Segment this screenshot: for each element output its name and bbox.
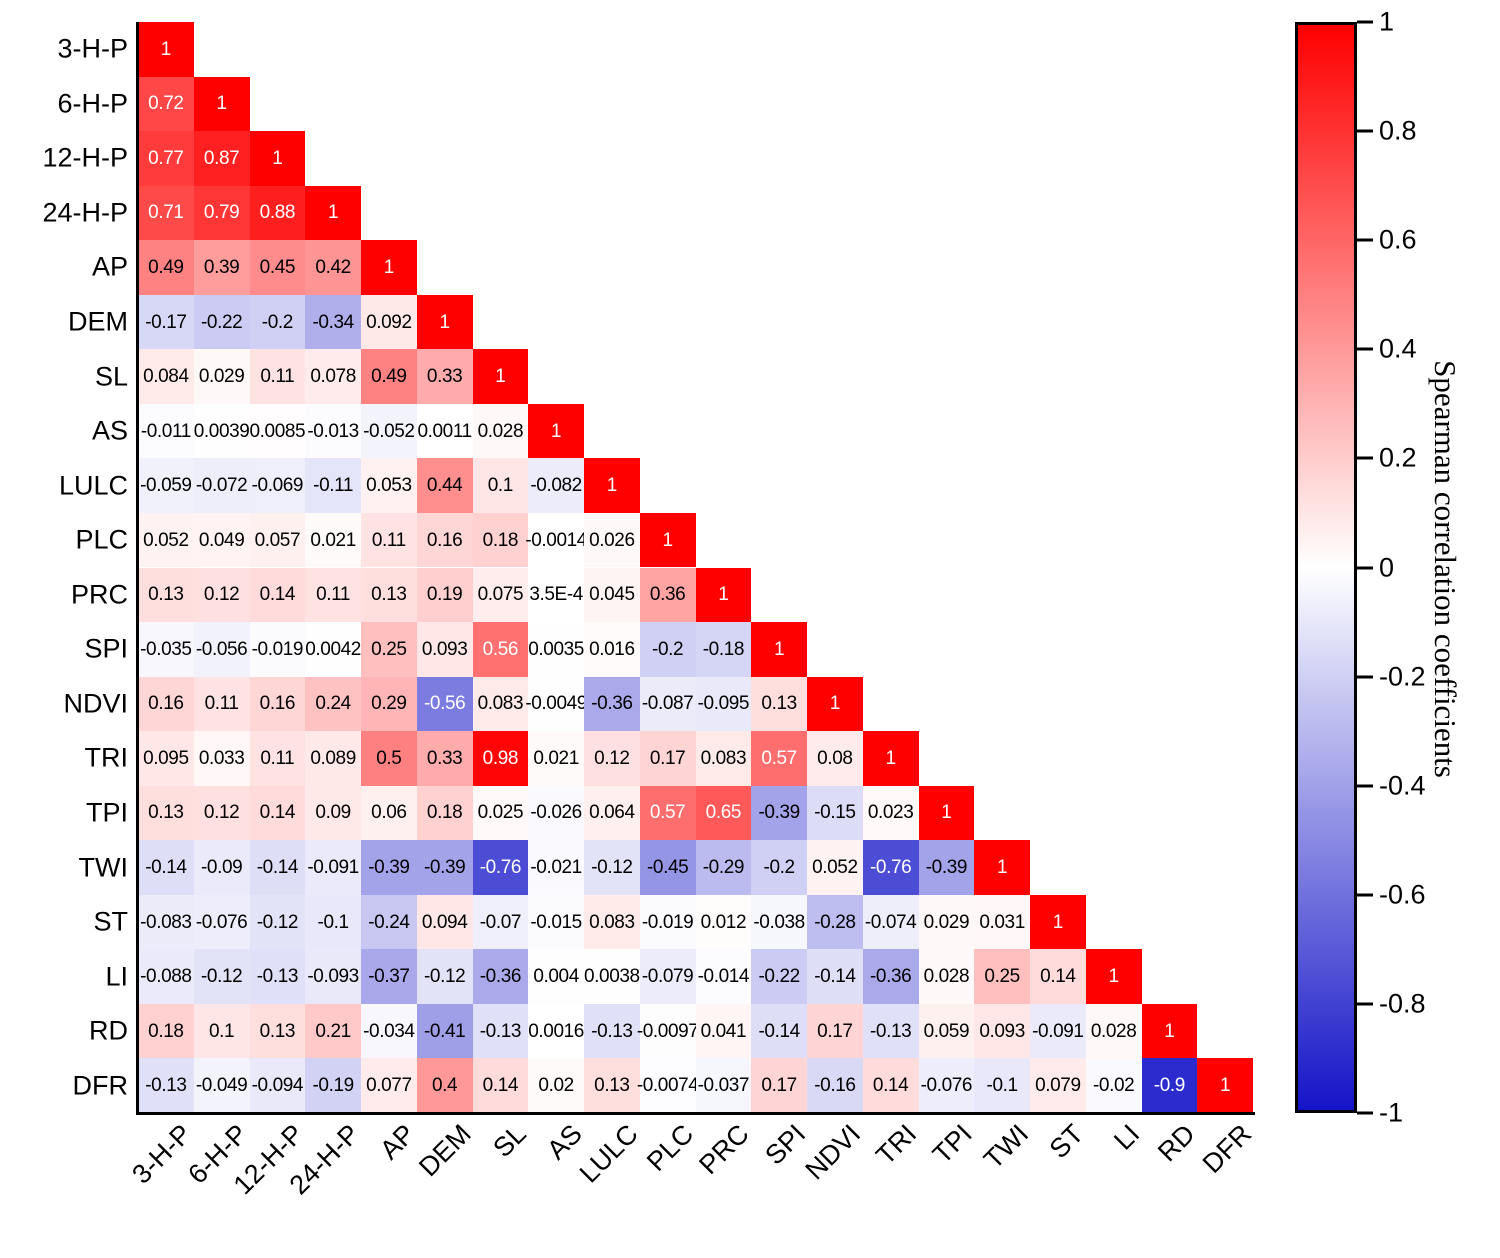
heatmap-cell: 1: [417, 295, 473, 350]
heatmap-cell: 0.077: [361, 1058, 417, 1113]
heatmap-cell: 0.059: [919, 1004, 975, 1059]
heatmap-cell: -0.072: [194, 458, 250, 513]
heatmap-cell: -0.0014: [528, 513, 584, 568]
heatmap-cell: 0.57: [640, 786, 696, 841]
colorbar-tick-label: -0.2: [1379, 663, 1426, 690]
heatmap-cell: 0.11: [194, 677, 250, 732]
x-axis-label: AS: [543, 1120, 588, 1165]
heatmap-cell: 0.36: [640, 568, 696, 623]
x-axis-label: ST: [1045, 1120, 1088, 1163]
heatmap-cell: 0.13: [361, 568, 417, 623]
y-axis-label: SPI: [0, 636, 128, 663]
heatmap-cell: 1: [528, 404, 584, 459]
heatmap-cell: 0.14: [250, 786, 306, 841]
x-axis-label: LI: [1110, 1120, 1145, 1155]
heatmap-cell: -0.16: [807, 1058, 863, 1113]
heatmap-cell: -0.76: [473, 840, 529, 895]
colorbar-tick-mark: [1357, 675, 1373, 678]
colorbar-tick-label: -0.8: [1379, 990, 1426, 1017]
heatmap-cell: 0.052: [138, 513, 194, 568]
x-axis-label: TPI: [929, 1120, 978, 1169]
heatmap-cell: 0.052: [807, 840, 863, 895]
colorbar-tick-label: -0.4: [1379, 772, 1426, 799]
colorbar-tick-mark: [1357, 21, 1373, 24]
colorbar-tick-mark: [1357, 348, 1373, 351]
y-axis-label: NDVI: [0, 690, 128, 717]
heatmap-cell: -0.17: [138, 295, 194, 350]
colorbar-tick-label: 0: [1379, 554, 1394, 581]
heatmap-cell: -0.0049: [528, 677, 584, 732]
colorbar-tick-mark: [1357, 457, 1373, 460]
heatmap-cell: -0.021: [528, 840, 584, 895]
heatmap-cell: -0.034: [361, 1004, 417, 1059]
heatmap-cell: -0.026: [528, 786, 584, 841]
heatmap-cell: 1: [473, 349, 529, 404]
heatmap-cell: 0.13: [138, 568, 194, 623]
x-axis-label: PLC: [642, 1120, 698, 1176]
heatmap-cell: 0.71: [138, 186, 194, 241]
heatmap-cell: 0.45: [250, 240, 306, 295]
heatmap-cell: 1: [305, 186, 361, 241]
colorbar-tick-label: 0.8: [1379, 118, 1417, 145]
heatmap-cell: 0.093: [417, 622, 473, 677]
heatmap-cell: 1: [640, 513, 696, 568]
heatmap-cell: 1: [194, 77, 250, 132]
heatmap-cell: -0.28: [807, 895, 863, 950]
colorbar-tick-label: 0.6: [1379, 227, 1417, 254]
heatmap-cell: -0.07: [473, 895, 529, 950]
heatmap-cell: 0.13: [751, 677, 807, 732]
heatmap-cell: 0.39: [194, 240, 250, 295]
heatmap-cell: 0.041: [696, 1004, 752, 1059]
heatmap-cell: 0.13: [584, 1058, 640, 1113]
heatmap-cell: 0.25: [974, 949, 1030, 1004]
heatmap-cell: -0.2: [640, 622, 696, 677]
heatmap-cell: -0.34: [305, 295, 361, 350]
heatmap-cell: 0.4: [417, 1058, 473, 1113]
heatmap-cell: 0.17: [751, 1058, 807, 1113]
heatmap-cell: -0.013: [305, 404, 361, 459]
heatmap-cell: -0.39: [361, 840, 417, 895]
heatmap-cell: 1: [584, 458, 640, 513]
heatmap-cell: -0.035: [138, 622, 194, 677]
heatmap-cell: 0.5: [361, 731, 417, 786]
heatmap-cell: 0.033: [194, 731, 250, 786]
x-axis-label: PRC: [695, 1120, 754, 1179]
heatmap-cell: 0.084: [138, 349, 194, 404]
y-axis-labels: 3-H-P6-H-P12-H-P24-H-PAPDEMSLASLULCPLCPR…: [0, 22, 128, 1113]
heatmap-cell: -0.2: [250, 295, 306, 350]
heatmap-cell: 0.0035: [528, 622, 584, 677]
heatmap-cell: 1: [751, 622, 807, 677]
y-axis-label: LI: [0, 963, 128, 990]
heatmap-cell: 0.079: [1030, 1058, 1086, 1113]
heatmap-cell: -0.36: [473, 949, 529, 1004]
x-axis-label: RD: [1154, 1120, 1201, 1167]
heatmap-cell: -0.45: [640, 840, 696, 895]
heatmap-cell: 0.012: [696, 895, 752, 950]
x-axis-label: DEM: [414, 1120, 476, 1182]
heatmap-cell: 1: [863, 731, 919, 786]
heatmap-cell: 0.0085: [250, 404, 306, 459]
heatmap-cell: -0.083: [138, 895, 194, 950]
heatmap-cell: -0.1: [974, 1058, 1030, 1113]
y-axis-label: 6-H-P: [0, 90, 128, 117]
colorbar-tick-label: 1: [1379, 9, 1394, 36]
y-axis-label: PRC: [0, 581, 128, 608]
heatmap-cell: 0.14: [250, 568, 306, 623]
heatmap-cell: 0.083: [696, 731, 752, 786]
heatmap-cell: 0.031: [974, 895, 1030, 950]
heatmap-cell: -0.019: [250, 622, 306, 677]
heatmap-cell: -0.18: [696, 622, 752, 677]
heatmap-cell: 1: [974, 840, 1030, 895]
heatmap-cell: -0.36: [863, 949, 919, 1004]
heatmap-cell: -0.037: [696, 1058, 752, 1113]
colorbar-tick-mark: [1357, 784, 1373, 787]
heatmap-cell: 0.089: [305, 731, 361, 786]
heatmap-cell: 0.1: [473, 458, 529, 513]
heatmap-cell: 0.16: [417, 513, 473, 568]
heatmap-cell: 1: [1142, 1004, 1198, 1059]
colorbar-tick-mark: [1357, 1002, 1373, 1005]
heatmap-cell: 0.25: [361, 622, 417, 677]
heatmap-cell: -0.093: [305, 949, 361, 1004]
heatmap-cell: 3.5E-4: [528, 568, 584, 623]
heatmap-cell: -0.069: [250, 458, 306, 513]
heatmap-cell: 0.18: [473, 513, 529, 568]
heatmap-cell: 0.0016: [528, 1004, 584, 1059]
heatmap-cell: 0.09: [305, 786, 361, 841]
heatmap-cell: 0.21: [305, 1004, 361, 1059]
heatmap-cell: -0.076: [194, 895, 250, 950]
heatmap-cell: -0.059: [138, 458, 194, 513]
heatmap-cell: 1: [250, 131, 306, 186]
heatmap-cell: -0.14: [250, 840, 306, 895]
heatmap-cell: 0.078: [305, 349, 361, 404]
heatmap-cell: 0.29: [361, 677, 417, 732]
x-axis-label: DFR: [1198, 1120, 1256, 1178]
heatmap-cells: 10.7210.770.8710.710.790.8810.490.390.45…: [138, 22, 1253, 1113]
heatmap-cell: 0.88: [250, 186, 306, 241]
heatmap-cell: -0.14: [807, 949, 863, 1004]
y-axis-label: TRI: [0, 745, 128, 772]
heatmap-cell: 0.057: [250, 513, 306, 568]
heatmap-cell: -0.13: [473, 1004, 529, 1059]
y-axis-label: 12-H-P: [0, 145, 128, 172]
heatmap-cell: -0.1: [305, 895, 361, 950]
y-axis-label: TPI: [0, 799, 128, 826]
x-axis-label: LULC: [575, 1120, 643, 1188]
heatmap-cell: -0.36: [584, 677, 640, 732]
y-axis-label: DEM: [0, 309, 128, 336]
x-axis-label: TWI: [979, 1120, 1033, 1174]
y-axis-label: AP: [0, 254, 128, 281]
colorbar-tick-label: 0.4: [1379, 336, 1417, 363]
heatmap-cell: 0.075: [473, 568, 529, 623]
heatmap-cell: 0.021: [305, 513, 361, 568]
heatmap-cell: 0.049: [194, 513, 250, 568]
heatmap-cell: 0.33: [417, 731, 473, 786]
heatmap-cell: 0.029: [919, 895, 975, 950]
heatmap-cell: -0.056: [194, 622, 250, 677]
y-axis-label: DFR: [0, 1072, 128, 1099]
heatmap-cell: 0.11: [250, 349, 306, 404]
heatmap-cell: 1: [1030, 895, 1086, 950]
heatmap-cell: -0.13: [138, 1058, 194, 1113]
heatmap-cell: -0.14: [751, 1004, 807, 1059]
colorbar: 10.80.60.40.20-0.2-0.4-0.6-0.8-1 Spearma…: [1295, 22, 1495, 1115]
colorbar-tick-mark: [1357, 239, 1373, 242]
heatmap-cell: 0.98: [473, 731, 529, 786]
colorbar-tick-mark: [1357, 566, 1373, 569]
heatmap-cell: 0.083: [473, 677, 529, 732]
correlation-heatmap-figure: 3-H-P6-H-P12-H-P24-H-PAPDEMSLASLULCPLCPR…: [0, 0, 1500, 1258]
heatmap-cell: 0.045: [584, 568, 640, 623]
heatmap-cell: 0.092: [361, 295, 417, 350]
heatmap-cell: 1: [1086, 949, 1142, 1004]
heatmap-cell: 0.33: [417, 349, 473, 404]
heatmap-cell: -0.074: [863, 895, 919, 950]
colorbar-title: Spearman correlation coefficients: [1427, 360, 1463, 778]
heatmap-cell: 0.79: [194, 186, 250, 241]
heatmap-cell: 0.24: [305, 677, 361, 732]
heatmap-cell: 0.77: [138, 131, 194, 186]
heatmap-cell: -0.2: [751, 840, 807, 895]
heatmap-cell: 0.18: [417, 786, 473, 841]
heatmap-cell: 0.49: [361, 349, 417, 404]
heatmap-cell: -0.12: [417, 949, 473, 1004]
heatmap-cell: 0.13: [250, 1004, 306, 1059]
y-axis-label: RD: [0, 1018, 128, 1045]
heatmap-cell: 1: [807, 677, 863, 732]
heatmap-cell: 0.02: [528, 1058, 584, 1113]
heatmap-cell: -0.39: [751, 786, 807, 841]
heatmap-cell: -0.02: [1086, 1058, 1142, 1113]
heatmap-cell: -0.038: [751, 895, 807, 950]
heatmap-cell: 0.16: [138, 677, 194, 732]
heatmap-cell: -0.76: [863, 840, 919, 895]
y-axis-label: PLC: [0, 527, 128, 554]
y-axis-label: TWI: [0, 854, 128, 881]
heatmap-cell: 0.004: [528, 949, 584, 1004]
heatmap-cell: -0.12: [194, 949, 250, 1004]
colorbar-tick-mark: [1357, 1112, 1373, 1115]
heatmap-cell: 0.11: [250, 731, 306, 786]
heatmap-cell: 0.026: [584, 513, 640, 568]
heatmap-cell: 0.44: [417, 458, 473, 513]
heatmap-cell: 0.72: [138, 77, 194, 132]
heatmap-cell: -0.12: [584, 840, 640, 895]
heatmap-cell: -0.0097: [640, 1004, 696, 1059]
heatmap-cell: -0.14: [138, 840, 194, 895]
heatmap-cell: -0.22: [751, 949, 807, 1004]
heatmap-cell: 0.016: [584, 622, 640, 677]
x-axis-label: TRI: [872, 1120, 922, 1170]
heatmap-cell: -0.13: [250, 949, 306, 1004]
heatmap-cell: -0.19: [305, 1058, 361, 1113]
x-axis-line: [136, 1112, 1255, 1115]
y-axis-label: 24-H-P: [0, 199, 128, 226]
heatmap-plot-area: 10.7210.770.8710.710.790.8810.490.390.45…: [138, 22, 1253, 1113]
heatmap-cell: -0.9: [1142, 1058, 1198, 1113]
heatmap-cell: -0.29: [696, 840, 752, 895]
colorbar-tick-mark: [1357, 130, 1373, 133]
y-axis-label: AS: [0, 418, 128, 445]
heatmap-cell: 0.18: [138, 1004, 194, 1059]
heatmap-cell: -0.56: [417, 677, 473, 732]
heatmap-cell: -0.095: [696, 677, 752, 732]
heatmap-cell: -0.37: [361, 949, 417, 1004]
colorbar-tick-label: -0.6: [1379, 881, 1426, 908]
x-axis-label: SL: [489, 1120, 531, 1162]
heatmap-cell: 0.025: [473, 786, 529, 841]
heatmap-cell: -0.091: [1030, 1004, 1086, 1059]
heatmap-cell: 0.57: [751, 731, 807, 786]
heatmap-cell: 0.11: [305, 568, 361, 623]
heatmap-cell: -0.076: [919, 1058, 975, 1113]
heatmap-cell: -0.09: [194, 840, 250, 895]
heatmap-cell: 0.42: [305, 240, 361, 295]
heatmap-cell: 0.08: [807, 731, 863, 786]
heatmap-cell: 0.17: [640, 731, 696, 786]
heatmap-cell: -0.015: [528, 895, 584, 950]
y-axis-label: ST: [0, 909, 128, 936]
heatmap-cell: 1: [138, 22, 194, 77]
heatmap-cell: 0.064: [584, 786, 640, 841]
x-axis-label: NDVI: [801, 1120, 866, 1185]
heatmap-cell: 0.56: [473, 622, 529, 677]
heatmap-cell: -0.22: [194, 295, 250, 350]
y-axis-label: 3-H-P: [0, 36, 128, 63]
heatmap-cell: -0.088: [138, 949, 194, 1004]
heatmap-cell: 1: [361, 240, 417, 295]
heatmap-cell: 1: [1197, 1058, 1253, 1113]
heatmap-cell: -0.091: [305, 840, 361, 895]
y-axis-label: SL: [0, 363, 128, 390]
heatmap-cell: 0.028: [919, 949, 975, 1004]
heatmap-cell: 0.87: [194, 131, 250, 186]
heatmap-cell: -0.0074: [640, 1058, 696, 1113]
colorbar-tick-mark: [1357, 893, 1373, 896]
heatmap-cell: 0.16: [250, 677, 306, 732]
heatmap-cell: 0.093: [974, 1004, 1030, 1059]
heatmap-cell: -0.087: [640, 677, 696, 732]
heatmap-cell: 0.0038: [584, 949, 640, 1004]
heatmap-cell: -0.13: [863, 1004, 919, 1059]
heatmap-cell: 1: [919, 786, 975, 841]
heatmap-cell: 0.11: [361, 513, 417, 568]
heatmap-cell: 0.65: [696, 786, 752, 841]
x-axis-labels: 3-H-P6-H-P12-H-P24-H-PAPDEMSLASLULCPLCPR…: [138, 1120, 1253, 1258]
heatmap-cell: 0.0042: [305, 622, 361, 677]
colorbar-tick-label: 0.2: [1379, 445, 1417, 472]
heatmap-cell: 0.12: [584, 731, 640, 786]
colorbar-tick-label: -1: [1379, 1100, 1403, 1127]
heatmap-cell: -0.052: [361, 404, 417, 459]
heatmap-cell: -0.014: [696, 949, 752, 1004]
heatmap-cell: -0.049: [194, 1058, 250, 1113]
heatmap-cell: -0.019: [640, 895, 696, 950]
y-axis-label: LULC: [0, 472, 128, 499]
heatmap-cell: 0.06: [361, 786, 417, 841]
heatmap-cell: -0.13: [584, 1004, 640, 1059]
heatmap-cell: 0.14: [863, 1058, 919, 1113]
heatmap-cell: 0.094: [417, 895, 473, 950]
heatmap-cell: -0.079: [640, 949, 696, 1004]
heatmap-cell: 0.12: [194, 786, 250, 841]
colorbar-gradient-box: [1295, 22, 1357, 1113]
heatmap-cell: 1: [696, 568, 752, 623]
heatmap-cell: 0.14: [473, 1058, 529, 1113]
heatmap-cell: 0.028: [473, 404, 529, 459]
heatmap-cell: -0.41: [417, 1004, 473, 1059]
heatmap-cell: 0.49: [138, 240, 194, 295]
heatmap-cell: -0.082: [528, 458, 584, 513]
heatmap-cell: -0.11: [305, 458, 361, 513]
heatmap-cell: -0.24: [361, 895, 417, 950]
heatmap-cell: 0.13: [138, 786, 194, 841]
heatmap-cell: 0.17: [807, 1004, 863, 1059]
colorbar-gradient: [1298, 25, 1354, 1110]
heatmap-cell: 0.029: [194, 349, 250, 404]
heatmap-cell: -0.12: [250, 895, 306, 950]
heatmap-cell: 0.0011: [417, 404, 473, 459]
x-axis-label: AP: [375, 1120, 420, 1165]
heatmap-cell: -0.15: [807, 786, 863, 841]
heatmap-cell: 0.1: [194, 1004, 250, 1059]
heatmap-cell: -0.011: [138, 404, 194, 459]
heatmap-cell: -0.094: [250, 1058, 306, 1113]
heatmap-cell: 0.14: [1030, 949, 1086, 1004]
heatmap-cell: 0.028: [1086, 1004, 1142, 1059]
heatmap-cell: 0.021: [528, 731, 584, 786]
x-axis-label: 3-H-P: [128, 1120, 197, 1189]
heatmap-cell: -0.39: [417, 840, 473, 895]
heatmap-cell: 0.083: [584, 895, 640, 950]
heatmap-cell: 0.095: [138, 731, 194, 786]
heatmap-cell: 0.053: [361, 458, 417, 513]
heatmap-cell: 0.023: [863, 786, 919, 841]
heatmap-cell: -0.39: [919, 840, 975, 895]
heatmap-cell: 0.0039: [194, 404, 250, 459]
heatmap-cell: 0.12: [194, 568, 250, 623]
heatmap-cell: 0.19: [417, 568, 473, 623]
y-axis-line: [136, 22, 139, 1115]
